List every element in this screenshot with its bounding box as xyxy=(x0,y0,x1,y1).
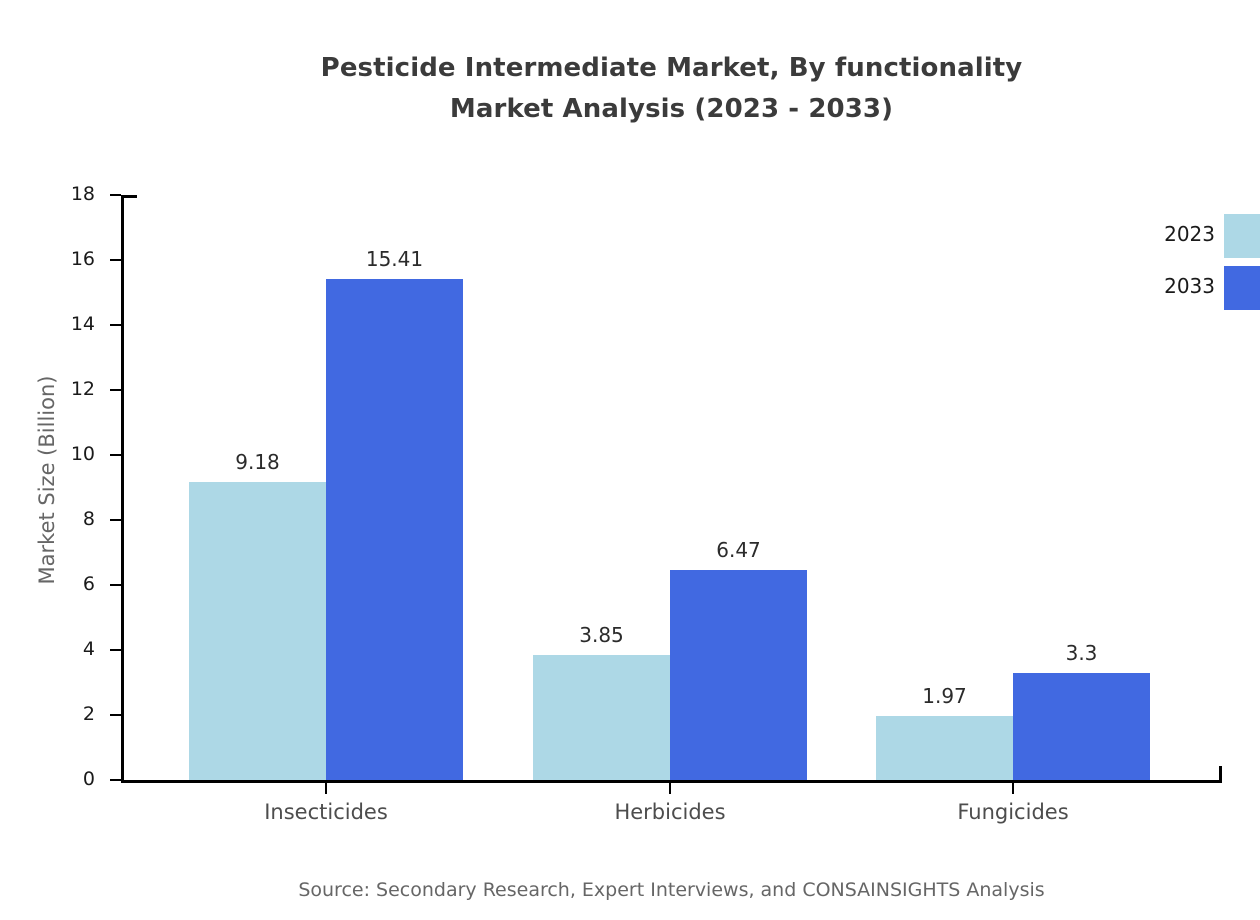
plot-area: 024681012141618 InsecticidesHerbicidesFu… xyxy=(121,186,1222,781)
y-axis-tick-label: 8 xyxy=(35,510,95,529)
chart-title: Pesticide Intermediate Market, By functi… xyxy=(0,48,1260,130)
y-axis-tick xyxy=(110,194,121,196)
y-axis-spine xyxy=(121,195,124,781)
y-axis-tick xyxy=(110,649,121,651)
bar-herbicides-2033[interactable] xyxy=(670,570,807,780)
y-axis-tick-label: 12 xyxy=(35,380,95,399)
bar-value-label: 3.3 xyxy=(982,643,1182,663)
bar-fungicides-2033[interactable] xyxy=(1013,673,1150,780)
x-axis-spine xyxy=(121,780,1222,783)
legend: 2023 2033 xyxy=(1133,214,1260,310)
y-axis-top-cap xyxy=(121,195,137,198)
bar-herbicides-2023[interactable] xyxy=(533,655,670,780)
x-axis-tick-label: Herbicides xyxy=(520,800,820,824)
y-axis-tick xyxy=(110,779,121,781)
y-axis-tick xyxy=(110,324,121,326)
x-axis-tick-label: Insecticides xyxy=(176,800,476,824)
y-axis-tick-label: 10 xyxy=(35,445,95,464)
legend-swatch-2033 xyxy=(1224,266,1260,310)
chart-title-line2: Market Analysis (2023 - 2033) xyxy=(0,89,1260,130)
y-axis-tick-label: 14 xyxy=(35,315,95,334)
y-axis-tick-label: 4 xyxy=(35,640,95,659)
chart-figure: Pesticide Intermediate Market, By functi… xyxy=(0,0,1260,920)
bar-value-label: 6.47 xyxy=(639,540,839,560)
y-axis-tick-label: 16 xyxy=(35,250,95,269)
y-axis-tick xyxy=(110,259,121,261)
y-axis-tick xyxy=(110,584,121,586)
x-axis-tick xyxy=(669,783,671,794)
y-axis-tick xyxy=(110,389,121,391)
chart-title-line1: Pesticide Intermediate Market, By functi… xyxy=(321,53,1023,83)
y-axis-tick xyxy=(110,454,121,456)
x-axis-tick-label: Fungicides xyxy=(863,800,1163,824)
bar-insecticides-2023[interactable] xyxy=(189,482,326,780)
y-axis-tick xyxy=(110,714,121,716)
y-axis-tick-label: 0 xyxy=(35,770,95,789)
y-axis-tick-label: 6 xyxy=(35,575,95,594)
y-axis-tick-label: 18 xyxy=(35,185,95,204)
bar-fungicides-2023[interactable] xyxy=(876,716,1013,780)
legend-swatch-2023 xyxy=(1224,214,1260,258)
x-axis-right-cap xyxy=(1219,766,1222,783)
x-axis-tick xyxy=(1012,783,1014,794)
bar-insecticides-2033[interactable] xyxy=(326,279,463,780)
legend-item-2033[interactable]: 2033 xyxy=(1133,266,1260,310)
bar-value-label: 15.41 xyxy=(295,249,495,269)
legend-item-2023[interactable]: 2023 xyxy=(1133,214,1260,258)
y-axis-tick-label: 2 xyxy=(35,705,95,724)
source-note: Source: Secondary Research, Expert Inter… xyxy=(0,879,1260,901)
x-axis-tick xyxy=(325,783,327,794)
legend-label-2023: 2023 xyxy=(1133,224,1215,244)
legend-label-2033: 2033 xyxy=(1133,276,1215,296)
y-axis-tick xyxy=(110,519,121,521)
